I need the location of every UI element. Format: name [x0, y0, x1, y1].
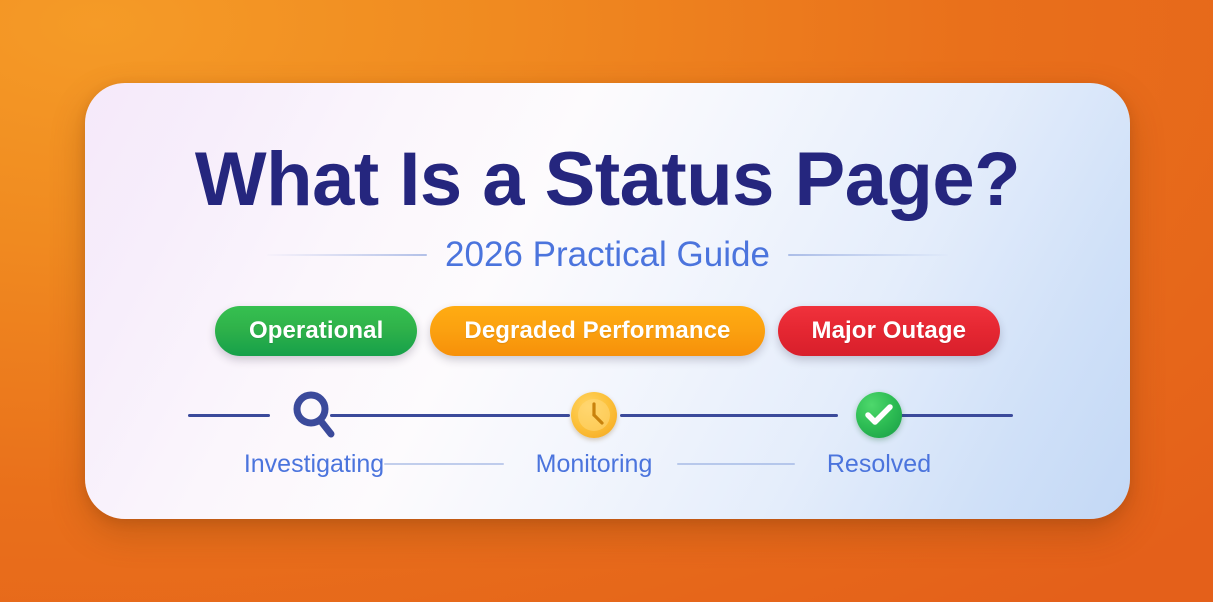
clock-icon	[571, 392, 617, 438]
subtitle-rule-right	[788, 254, 948, 256]
timeline-step-label: Monitoring	[499, 449, 689, 479]
timeline-step-label: Investigating	[219, 449, 409, 479]
card-content: What Is a Status Page? 2026 Practical Gu…	[85, 83, 1130, 519]
timeline-icon-wrap	[499, 383, 689, 447]
status-badge-operational[interactable]: Operational	[215, 306, 417, 356]
page-subtitle: 2026 Practical Guide	[445, 235, 770, 275]
poster-canvas: What Is a Status Page? 2026 Practical Gu…	[0, 0, 1213, 602]
timeline-step-label: Resolved	[784, 449, 974, 479]
status-badge-major-outage[interactable]: Major Outage	[778, 306, 1001, 356]
magnifying-glass-icon	[290, 389, 338, 441]
check-circle-icon	[856, 392, 902, 438]
subtitle-row: 2026 Practical Guide	[85, 233, 1130, 277]
timeline-step-resolved[interactable]: Resolved	[784, 383, 974, 479]
status-page-card: What Is a Status Page? 2026 Practical Gu…	[85, 83, 1130, 519]
timeline-step-monitoring[interactable]: Monitoring	[499, 383, 689, 479]
timeline-steps: Investigating Moni	[188, 383, 1027, 483]
status-badge-degraded-performance[interactable]: Degraded Performance	[430, 306, 764, 356]
subtitle-rule-left	[267, 254, 427, 256]
timeline-icon-wrap	[784, 383, 974, 447]
status-badges: Operational Degraded Performance Major O…	[85, 306, 1130, 356]
timeline-icon-wrap	[219, 383, 409, 447]
timeline-step-investigating[interactable]: Investigating	[219, 383, 409, 479]
incident-timeline: Investigating Moni	[188, 383, 1027, 483]
page-title: What Is a Status Page?	[85, 138, 1130, 222]
